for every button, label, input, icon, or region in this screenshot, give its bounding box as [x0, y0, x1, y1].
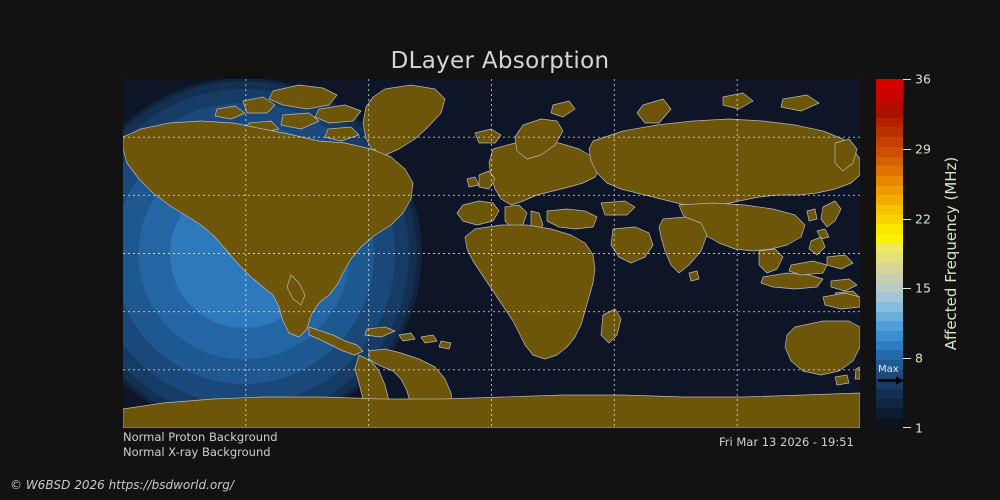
- colorbar-tick-label: 8: [915, 351, 923, 366]
- colorbar-band: [876, 127, 903, 137]
- colorbar-tick-mark: [903, 219, 911, 220]
- colorbar-band: [876, 341, 903, 351]
- colorbar-tick-mark: [903, 79, 911, 80]
- copyright-footer: © W6BSD 2026 https://bsdworld.org/: [10, 478, 234, 492]
- xray-background-note: Normal X-ray Background: [123, 445, 271, 459]
- colorbar-band: [876, 253, 903, 263]
- colorbar-band: [876, 137, 903, 147]
- dlayer-absorption-plot: DLayer Absorption: [0, 0, 1000, 500]
- colorbar-tick-label: 15: [915, 281, 931, 296]
- colorbar-band: [876, 205, 903, 215]
- colorbar-band: [876, 176, 903, 186]
- colorbar-band: [876, 118, 903, 128]
- colorbar-band: [876, 157, 903, 167]
- proton-background-note: Normal Proton Background: [123, 430, 278, 444]
- colorbar-ticks: 3629221581: [903, 79, 963, 428]
- colorbar-tick-label: 22: [915, 211, 931, 226]
- colorbar-band: [876, 186, 903, 196]
- colorbar-band: [876, 399, 903, 409]
- colorbar-band: [876, 408, 903, 418]
- colorbar-band: [876, 418, 903, 428]
- colorbar-band: [876, 195, 903, 205]
- colorbar[interactable]: [876, 79, 903, 428]
- colorbar-band: [876, 389, 903, 399]
- colorbar-band: [876, 302, 903, 312]
- colorbar-tick-mark: [903, 149, 911, 150]
- colorbar-band: [876, 79, 903, 89]
- colorbar-band: [876, 224, 903, 234]
- colorbar-band: [876, 108, 903, 118]
- page-title: DLayer Absorption: [0, 48, 1000, 74]
- colorbar-band: [876, 360, 903, 370]
- colorbar-band: [876, 215, 903, 225]
- colorbar-band: [876, 331, 903, 341]
- world-map[interactable]: [123, 79, 860, 428]
- map-canvas: [123, 79, 860, 428]
- colorbar-band: [876, 379, 903, 389]
- colorbar-tick-mark: [903, 358, 911, 359]
- map-content: [123, 79, 860, 428]
- colorbar-band: [876, 147, 903, 157]
- colorbar-band: [876, 166, 903, 176]
- colorbar-band: [876, 370, 903, 380]
- timestamp-label: Fri Mar 13 2026 - 19:51: [719, 435, 854, 449]
- colorbar-band: [876, 98, 903, 108]
- colorbar-band: [876, 350, 903, 360]
- colorbar-tick-label: 1: [915, 421, 923, 436]
- colorbar-tick-label: 36: [915, 72, 931, 87]
- colorbar-tick-mark: [903, 288, 911, 289]
- colorbar-band: [876, 321, 903, 331]
- colorbar-band: [876, 312, 903, 322]
- colorbar-band: [876, 292, 903, 302]
- colorbar-band: [876, 273, 903, 283]
- colorbar-band: [876, 282, 903, 292]
- colorbar-band: [876, 263, 903, 273]
- colorbar-gradient: [876, 79, 903, 428]
- colorbar-band: [876, 234, 903, 244]
- colorbar-band: [876, 244, 903, 254]
- colorbar-band: [876, 89, 903, 99]
- colorbar-tick-mark: [903, 427, 911, 428]
- colorbar-tick-label: 29: [915, 141, 931, 156]
